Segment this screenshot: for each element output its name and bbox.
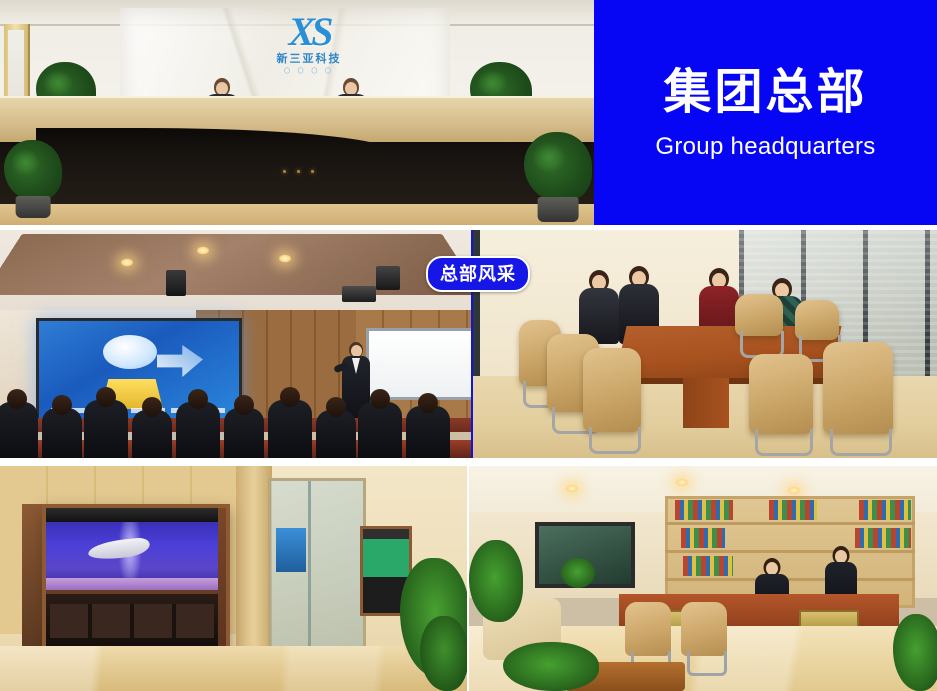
logo-name-cn: 新三亚科技 (249, 52, 369, 66)
aquarium-scene (0, 466, 467, 691)
photo-meeting-room[interactable] (473, 230, 937, 458)
logo-sub-marks: 〇 〇 〇 〇 (249, 68, 369, 77)
plant-pot (538, 197, 579, 222)
audience-member (224, 408, 264, 458)
badge-headquarters-style-middle: 总部风采 (426, 256, 530, 292)
ceiling-light (196, 246, 210, 255)
slide-graphic-arrow (157, 345, 203, 377)
wall-speaker-right (376, 266, 400, 290)
conference-table-leg (683, 378, 729, 428)
photo-reception-lobby[interactable]: XS 新三亚科技 〇 〇 〇 〇 (0, 0, 594, 225)
ceiling-light (278, 254, 292, 263)
office-chair-2 (681, 602, 727, 656)
photo-training-room[interactable] (0, 230, 473, 458)
lobby-floor (0, 646, 467, 691)
panel-heading-english: Group headquarters (655, 133, 875, 161)
lobby-plant-2 (420, 616, 467, 691)
group-headquarters-banner: XS 新三亚科技 〇 〇 〇 〇 (0, 0, 937, 691)
meeting-person-1 (579, 270, 619, 344)
meeting-chair-5 (795, 300, 839, 340)
meeting-chair-4 (735, 294, 783, 336)
shelf-books (675, 500, 733, 520)
aquarium-hood (46, 508, 218, 522)
shelf-books (855, 528, 911, 548)
training-scene (0, 230, 471, 458)
counter-accent-lights (283, 170, 323, 178)
aquarium-cabinet (46, 594, 218, 646)
audience-member (358, 402, 402, 458)
shelf-books (769, 500, 817, 520)
meeting-scene (473, 230, 937, 458)
meeting-chair-6 (749, 354, 813, 434)
ceiling-light (565, 484, 579, 493)
ceiling-light (120, 258, 134, 267)
meeting-chair-7 (823, 342, 893, 434)
audience-member (316, 410, 356, 458)
audience-member (176, 402, 220, 458)
audience-member (268, 400, 312, 458)
title-panel: 集团总部 Group headquarters (594, 0, 937, 225)
reception-floor (0, 204, 594, 225)
audience-member (84, 400, 128, 458)
audience-member (42, 408, 82, 458)
reception-plant-far-left (4, 140, 62, 218)
photo-executive-office[interactable] (469, 466, 937, 691)
aquarium-fish (87, 537, 151, 561)
audience-member (406, 406, 450, 458)
office-scene (469, 466, 937, 691)
slide-graphic-circle (103, 335, 157, 369)
projector (342, 286, 376, 302)
shelf-books (859, 500, 911, 520)
reception-scene: XS 新三亚科技 〇 〇 〇 〇 (0, 0, 594, 225)
ceiling-light (787, 486, 801, 495)
office-chair-1 (625, 602, 671, 656)
training-audience (0, 380, 471, 458)
plant-foliage (524, 132, 592, 202)
aquarium-gravel (46, 578, 218, 590)
meeting-chair-3 (583, 348, 641, 432)
plant-pot (16, 196, 51, 218)
logo-mark: XS (249, 12, 369, 52)
training-ceiling-panel (0, 234, 473, 295)
office-plant-foreground (503, 642, 599, 691)
office-plant-left (469, 540, 523, 622)
panel-heading-chinese: 集团总部 (663, 65, 867, 121)
audience-member (0, 402, 38, 458)
shelf-books (683, 556, 733, 576)
lobby-wall-sign (276, 528, 306, 572)
office-plant-desk (561, 558, 595, 588)
plant-foliage (4, 140, 62, 201)
wall-speaker-left (166, 270, 186, 296)
ceiling-light (675, 478, 689, 487)
audience-member (132, 410, 172, 458)
photo-aquarium-lobby[interactable]: 总部风采 (0, 466, 467, 691)
shelf-books (681, 528, 725, 548)
reception-plant-far-right (524, 132, 592, 222)
lobby-column (236, 466, 272, 656)
